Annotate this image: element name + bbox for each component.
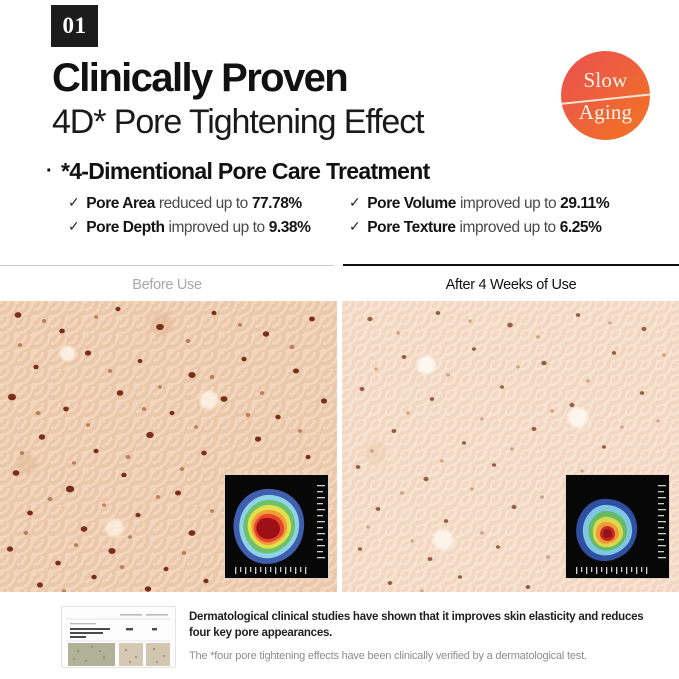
slow-aging-badge-line1: Slow	[561, 68, 650, 93]
claim-item-pore-depth: ✓ Pore Depth improved up to 9.38%	[68, 219, 349, 237]
check-icon: ✓	[68, 218, 79, 235]
claims-title: · *4-Dimentional Pore Care Treatment	[46, 158, 430, 185]
bullet-dot-icon: ·	[46, 161, 52, 181]
claim-verb: improved up to	[460, 195, 556, 213]
after-pore-heatmap-inset	[565, 474, 670, 579]
report-thumbnail-image	[62, 607, 175, 667]
claim-item-pore-volume: ✓ Pore Volume improved up to 29.11%	[349, 195, 609, 213]
claim-item-pore-area: ✓ Pore Area reduced up to 77.78%	[68, 195, 349, 213]
before-pore-heatmap-inset	[224, 474, 329, 579]
before-heatmap-chart	[225, 475, 328, 578]
claims-list: ✓ Pore Area reduced up to 77.78% ✓ Pore …	[68, 192, 668, 240]
before-label: Before Use	[0, 277, 334, 293]
after-skin-panel	[342, 301, 679, 592]
claim-verb: improved up to	[460, 219, 556, 237]
claim-value: 6.25%	[560, 219, 602, 237]
claims-row: ✓ Pore Area reduced up to 77.78% ✓ Pore …	[68, 192, 668, 216]
slow-aging-badge: Slow Aging	[561, 51, 650, 140]
claim-verb: reduced up to	[159, 195, 248, 213]
page-subtitle: 4D* Pore Tightening Effect	[52, 104, 423, 141]
claim-verb: improved up to	[168, 219, 264, 237]
after-label: After 4 Weeks of Use	[343, 277, 679, 293]
footer-text-block: Dermatological clinical studies have sho…	[189, 610, 659, 664]
claim-metric: Pore Depth	[86, 219, 164, 237]
claims-title-text: *4-Dimentional Pore Care Treatment	[61, 158, 430, 185]
check-icon: ✓	[68, 194, 79, 211]
footer-disclaimer: The *four pore tightening effects have b…	[189, 649, 659, 664]
footer-headline: Dermatological clinical studies have sho…	[189, 610, 659, 642]
before-skin-panel	[0, 301, 337, 592]
check-icon: ✓	[349, 218, 360, 235]
claim-metric: Pore Area	[86, 195, 155, 213]
claim-metric: Pore Texture	[367, 219, 455, 237]
comparison-panels	[0, 301, 679, 592]
claim-value: 77.78%	[252, 195, 302, 213]
after-heatmap-chart	[566, 475, 669, 578]
before-divider-rule	[0, 265, 334, 266]
after-divider-rule	[343, 264, 679, 266]
infographic-page: 01 Clinically Proven 4D* Pore Tightening…	[0, 0, 679, 679]
claims-row: ✓ Pore Depth improved up to 9.38% ✓ Pore…	[68, 216, 668, 240]
claim-metric: Pore Volume	[367, 195, 456, 213]
footer: Dermatological clinical studies have sho…	[0, 596, 679, 679]
claim-value: 29.11%	[560, 195, 609, 213]
check-icon: ✓	[349, 194, 360, 211]
claim-item-pore-texture: ✓ Pore Texture improved up to 6.25%	[349, 219, 601, 237]
slow-aging-badge-line2: Aging	[561, 100, 650, 125]
clinical-report-thumbnail	[61, 606, 176, 668]
claim-value: 9.38%	[269, 219, 311, 237]
page-title: Clinically Proven	[52, 57, 347, 99]
step-number-badge: 01	[51, 5, 98, 47]
